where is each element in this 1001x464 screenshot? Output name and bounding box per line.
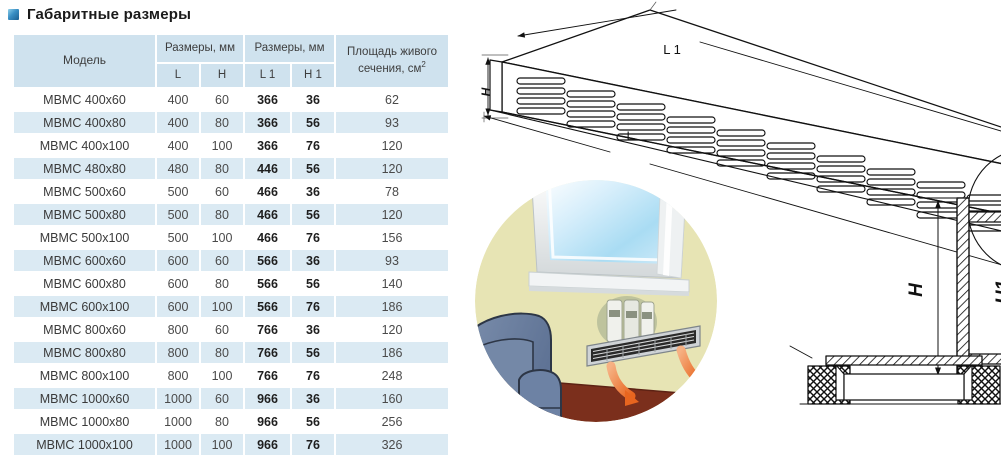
cell-length-inner: 566 (244, 295, 291, 318)
cell-free-area: 256 (335, 410, 449, 433)
cell-length: 400 (156, 134, 200, 157)
cell-height-inner: 56 (291, 203, 335, 226)
label-iso-length-outer: L (627, 129, 634, 143)
cell-length: 500 (156, 226, 200, 249)
cell-length-inner: 966 (244, 433, 291, 456)
cell-length: 800 (156, 341, 200, 364)
cell-model: МВМС 1000х60 (13, 387, 156, 410)
cell-height-inner: 76 (291, 295, 335, 318)
header-group-outer: Размеры, мм (156, 34, 244, 63)
cell-height-inner: 76 (291, 226, 335, 249)
cell-free-area: 62 (335, 88, 449, 111)
cell-height-inner: 76 (291, 364, 335, 387)
label-iso-length-inner: L 1 (663, 42, 681, 57)
cell-length: 480 (156, 157, 200, 180)
cell-height-inner: 36 (291, 88, 335, 111)
cell-length-inner: 766 (244, 318, 291, 341)
cell-length-inner: 466 (244, 180, 291, 203)
cell-model: МВМС 1000х100 (13, 433, 156, 456)
page-title-label: Габаритные размеры (27, 6, 191, 23)
cell-model: МВМС 600х60 (13, 249, 156, 272)
cell-free-area: 120 (335, 203, 449, 226)
header-col-l1: L 1 (244, 63, 291, 88)
cell-length: 600 (156, 295, 200, 318)
header-col-h1: H 1 (291, 63, 335, 88)
cell-height-inner: 76 (291, 134, 335, 157)
cell-length-inner: 966 (244, 410, 291, 433)
cell-length: 400 (156, 88, 200, 111)
table-row: МВМС 400х80400803665693 (13, 111, 449, 134)
header-free-area-sup: 2 (421, 60, 425, 69)
table-header: Модель Размеры, мм Размеры, мм Площадь ж… (13, 34, 449, 88)
cell-free-area: 120 (335, 157, 449, 180)
cell-length: 400 (156, 111, 200, 134)
cell-height: 100 (200, 364, 244, 387)
cell-height: 60 (200, 180, 244, 203)
cell-height: 100 (200, 134, 244, 157)
cell-height: 60 (200, 318, 244, 341)
table-row: МВМС 800х608006076636120 (13, 318, 449, 341)
cell-length-inner: 466 (244, 226, 291, 249)
cell-free-area: 93 (335, 111, 449, 134)
cell-height: 100 (200, 226, 244, 249)
dimensions-table-wrapper: Модель Размеры, мм Размеры, мм Площадь ж… (12, 33, 448, 457)
table-row: МВМС 600х60600605663693 (13, 249, 449, 272)
table-row: МВМС 500х805008046656120 (13, 203, 449, 226)
cell-height-inner: 36 (291, 387, 335, 410)
cell-height: 60 (200, 387, 244, 410)
cell-model: МВМС 800х60 (13, 318, 156, 341)
page-root: Габаритные размеры Модель Размеры, мм Ра… (0, 0, 1001, 464)
cell-free-area: 140 (335, 272, 449, 295)
page-title: Габаритные размеры (8, 6, 191, 23)
cell-free-area: 186 (335, 341, 449, 364)
cell-length-inner: 466 (244, 203, 291, 226)
cell-length: 600 (156, 272, 200, 295)
cell-height-inner: 56 (291, 111, 335, 134)
header-col-h: H (200, 63, 244, 88)
cell-free-area: 156 (335, 226, 449, 249)
cell-length-inner: 366 (244, 111, 291, 134)
header-free-area-line1: Площадь живого (347, 46, 437, 58)
cell-length-inner: 766 (244, 364, 291, 387)
cell-height: 100 (200, 295, 244, 318)
cell-free-area: 248 (335, 364, 449, 387)
cell-height-inner: 36 (291, 180, 335, 203)
cell-length-inner: 366 (244, 88, 291, 111)
cell-model: МВМС 500х100 (13, 226, 156, 249)
label-iso-height: H (479, 87, 493, 96)
cell-model: МВМС 600х80 (13, 272, 156, 295)
cell-height-inner: 36 (291, 249, 335, 272)
cell-model: МВМС 500х60 (13, 180, 156, 203)
cell-free-area: 186 (335, 295, 449, 318)
cell-length: 1000 (156, 433, 200, 456)
cell-height: 80 (200, 341, 244, 364)
table-row: МВМС 480х804808044656120 (13, 157, 449, 180)
cell-height: 80 (200, 203, 244, 226)
cell-length: 500 (156, 180, 200, 203)
table-row: МВМС 400х10040010036676120 (13, 134, 449, 157)
cell-free-area: 120 (335, 134, 449, 157)
table-row: МВМС 1000х6010006096636160 (13, 387, 449, 410)
cell-length-inner: 766 (244, 341, 291, 364)
cell-length-inner: 366 (244, 134, 291, 157)
cell-height: 80 (200, 272, 244, 295)
cell-length-inner: 966 (244, 387, 291, 410)
cell-free-area: 120 (335, 318, 449, 341)
cell-length-inner: 566 (244, 272, 291, 295)
header-model: Модель (13, 34, 156, 88)
cell-model: МВМС 500х80 (13, 203, 156, 226)
cell-height-inner: 76 (291, 433, 335, 456)
cell-length: 1000 (156, 387, 200, 410)
table-row: МВМС 500х10050010046676156 (13, 226, 449, 249)
cell-height: 100 (200, 433, 244, 456)
header-free-area-line2: сечения, см (358, 62, 421, 74)
table-body: МВМС 400х60400603663662МВМС 400х80400803… (13, 88, 449, 456)
cell-height: 80 (200, 157, 244, 180)
table-row: МВМС 600х806008056656140 (13, 272, 449, 295)
cell-model: МВМС 400х100 (13, 134, 156, 157)
header-col-l: L (156, 63, 200, 88)
cell-height-inner: 36 (291, 318, 335, 341)
cell-free-area: 78 (335, 180, 449, 203)
cell-length-inner: 566 (244, 249, 291, 272)
table-row: МВМС 800х808008076656186 (13, 341, 449, 364)
cell-free-area: 326 (335, 433, 449, 456)
cell-height-inner: 56 (291, 157, 335, 180)
cell-height: 80 (200, 111, 244, 134)
cell-length: 800 (156, 364, 200, 387)
blue-square-bullet-icon (8, 9, 19, 20)
cell-height: 60 (200, 88, 244, 111)
table-row: МВМС 800х10080010076676248 (13, 364, 449, 387)
cell-length: 1000 (156, 410, 200, 433)
cell-length: 600 (156, 249, 200, 272)
room-illustration (475, 180, 717, 422)
table-row: МВМС 400х60400603663662 (13, 88, 449, 111)
dimensions-table: Модель Размеры, мм Размеры, мм Площадь ж… (12, 33, 450, 457)
cell-height: 60 (200, 249, 244, 272)
cell-model: МВМС 480х80 (13, 157, 156, 180)
table-row: МВМС 1000х100100010096676326 (13, 433, 449, 456)
label-section-height-inner: H1 (993, 280, 1001, 304)
header-group-inner: Размеры, мм (244, 34, 335, 63)
cell-height-inner: 56 (291, 272, 335, 295)
cell-height: 80 (200, 410, 244, 433)
cell-height-inner: 56 (291, 341, 335, 364)
cell-model: МВМС 800х80 (13, 341, 156, 364)
label-section-height-outer: H (906, 282, 927, 297)
cell-model: МВМС 800х100 (13, 364, 156, 387)
table-row: МВМС 500х60500604663678 (13, 180, 449, 203)
cell-model: МВМС 400х60 (13, 88, 156, 111)
cell-length-inner: 446 (244, 157, 291, 180)
cell-model: МВМС 1000х80 (13, 410, 156, 433)
cell-length: 500 (156, 203, 200, 226)
header-free-area: Площадь живого сечения, см2 (335, 34, 449, 88)
cell-length: 800 (156, 318, 200, 341)
cell-free-area: 93 (335, 249, 449, 272)
cell-model: МВМС 600х100 (13, 295, 156, 318)
cell-model: МВМС 400х80 (13, 111, 156, 134)
table-row: МВМС 1000х8010008096656256 (13, 410, 449, 433)
cell-height-inner: 56 (291, 410, 335, 433)
cell-free-area: 160 (335, 387, 449, 410)
table-row: МВМС 600х10060010056676186 (13, 295, 449, 318)
